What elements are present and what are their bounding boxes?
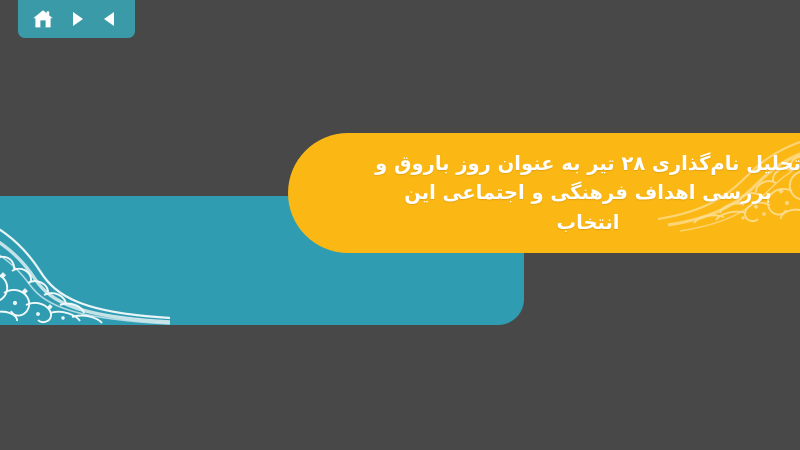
title-container: تحلیل نام‌گذاری ۲۸ تیر به عنوان روز بارو… bbox=[346, 133, 800, 253]
presentation-slide: تحلیل نام‌گذاری ۲۸ تیر به عنوان روز بارو… bbox=[0, 0, 800, 450]
home-icon bbox=[32, 9, 54, 29]
back-button[interactable] bbox=[96, 6, 124, 32]
title-banner: تحلیل نام‌گذاری ۲۸ تیر به عنوان روز بارو… bbox=[288, 133, 800, 253]
forward-button[interactable] bbox=[63, 6, 91, 32]
back-icon bbox=[101, 10, 119, 28]
forward-icon bbox=[68, 10, 86, 28]
navigation-bar bbox=[18, 0, 135, 38]
arabesque-ornament-bottom-left bbox=[0, 196, 170, 325]
home-button[interactable] bbox=[29, 6, 57, 32]
page-title: تحلیل نام‌گذاری ۲۸ تیر به عنوان روز بارو… bbox=[375, 149, 800, 238]
